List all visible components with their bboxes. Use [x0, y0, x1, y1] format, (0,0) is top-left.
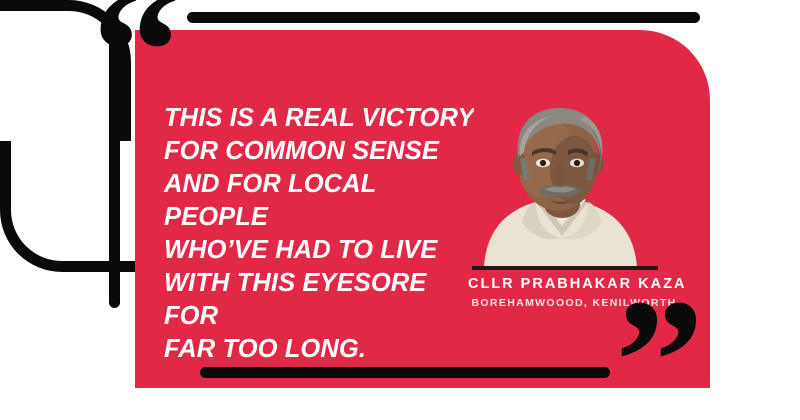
pull-quote-card: “ THIS IS A REAL VICTORY FOR COMMON SENS…	[0, 0, 800, 420]
closing-quotation-mark-icon: ”	[615, 272, 702, 420]
frame-top-bar	[187, 12, 700, 23]
portrait-illustration	[474, 96, 654, 268]
portrait-photo	[474, 96, 654, 268]
quote-text: THIS IS A REAL VICTORY FOR COMMON SENSE …	[164, 102, 476, 366]
frame-bottom-bar	[200, 367, 610, 378]
